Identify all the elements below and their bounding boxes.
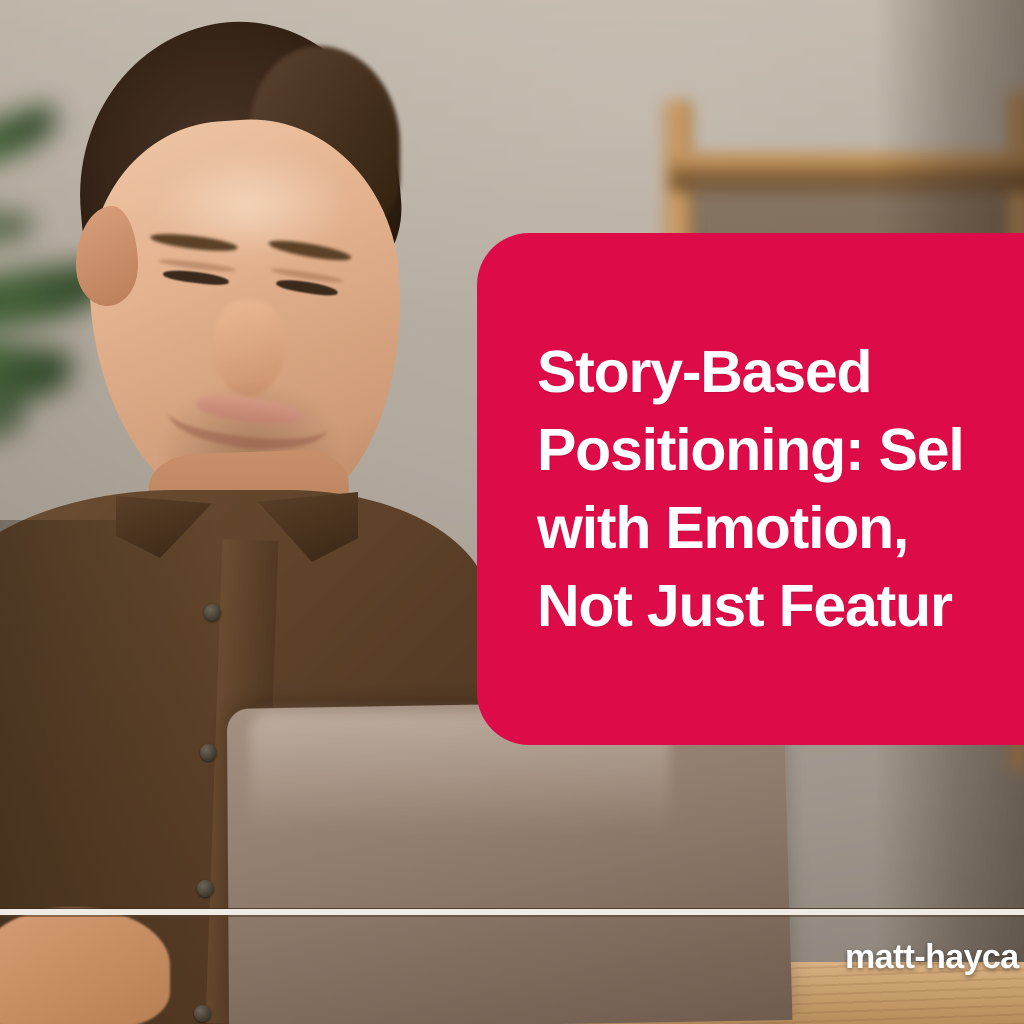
shirt-button <box>204 604 221 621</box>
shirt-button <box>200 744 217 761</box>
title-text: Story-Based Positioning: Sel with Emotio… <box>477 333 964 645</box>
title-card: Story-Based Positioning: Sel with Emotio… <box>477 233 1024 745</box>
image-canvas: Story-Based Positioning: Sel with Emotio… <box>0 0 1024 1024</box>
shirt-button <box>197 880 214 897</box>
hand <box>0 908 170 1024</box>
horizontal-divider-line <box>0 908 1024 917</box>
shirt-button <box>194 1005 211 1022</box>
watermark-site-name: matt-hayca <box>845 938 1019 977</box>
